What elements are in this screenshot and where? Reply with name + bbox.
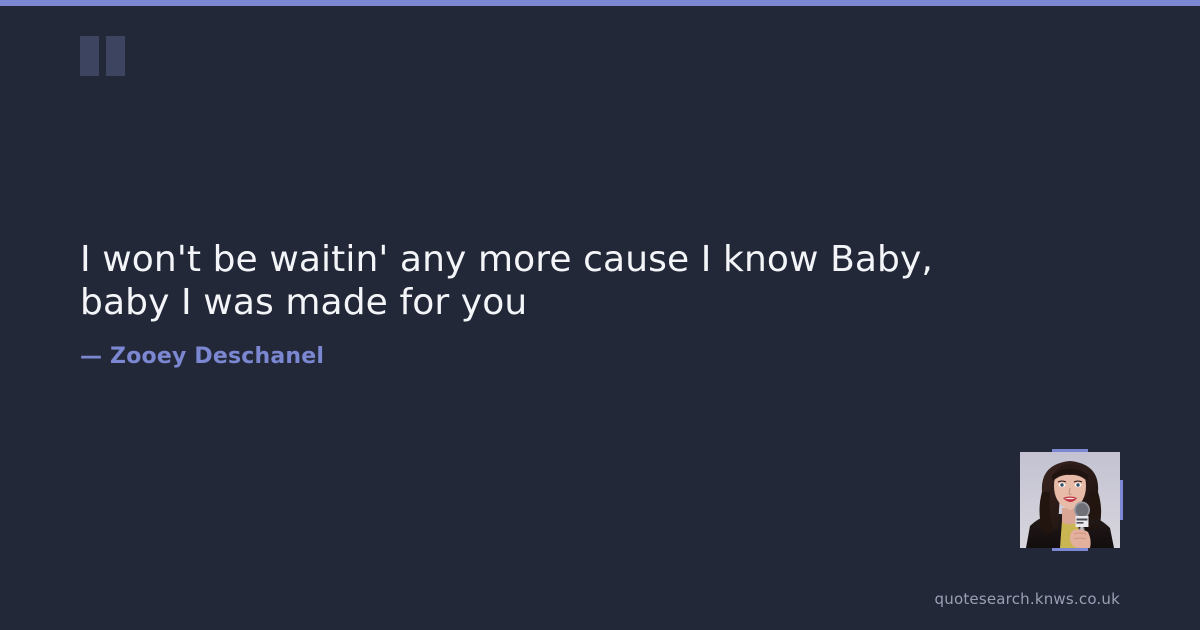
open-quote-icon xyxy=(80,36,140,84)
quote-card: I won't be waitin' any more cause I know… xyxy=(0,0,1200,630)
author-portrait: AC xyxy=(1020,452,1120,548)
source-url: quotesearch.knws.co.uk xyxy=(935,590,1120,608)
portrait-accent-top xyxy=(1052,449,1088,452)
quote-block: I won't be waitin' any more cause I know… xyxy=(80,238,1080,324)
portrait-accent-bottom xyxy=(1052,548,1088,551)
portrait-accent-right xyxy=(1120,480,1123,520)
top-accent-bar xyxy=(0,0,1200,6)
author-portrait-image: AC xyxy=(1020,452,1120,548)
svg-text:AC: AC xyxy=(1090,518,1101,526)
quote-text: I won't be waitin' any more cause I know… xyxy=(80,238,1080,324)
quote-attribution: — Zooey Deschanel xyxy=(80,344,324,369)
